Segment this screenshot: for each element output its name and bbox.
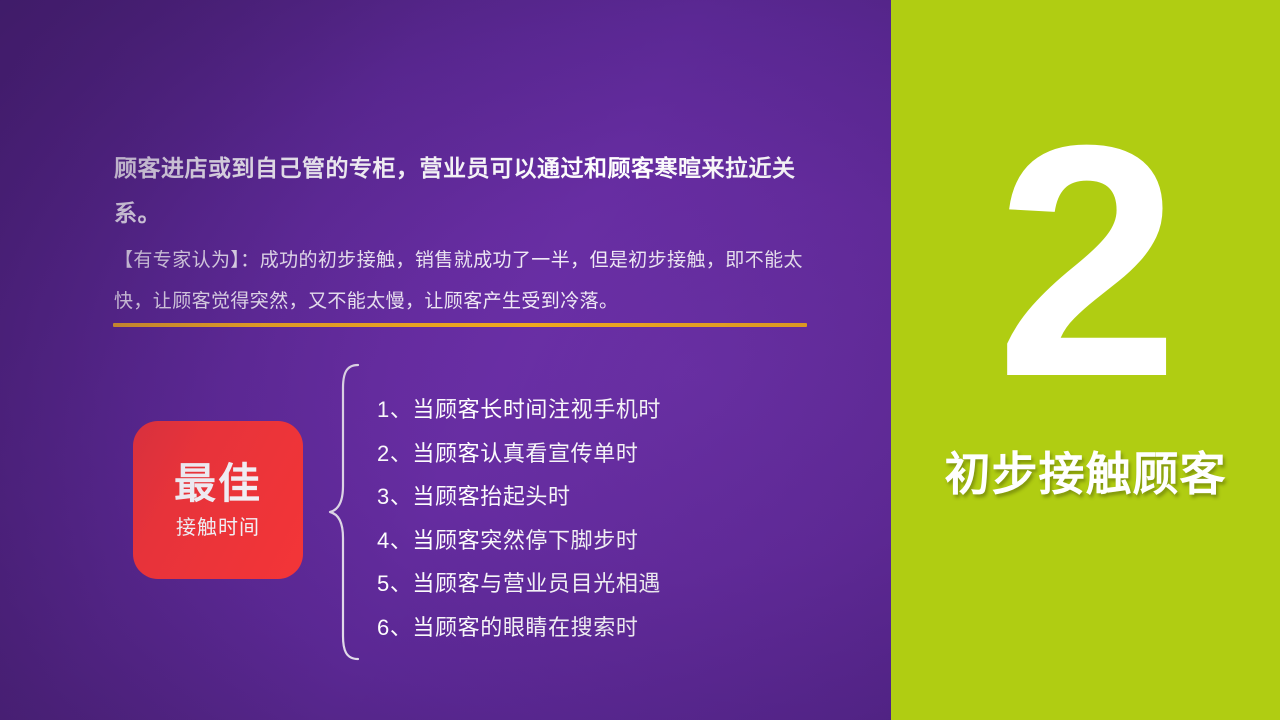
- slide-heading: 顾客进店或到自己管的专柜，营业员可以通过和顾客寒暄来拉近关系。: [114, 146, 820, 236]
- list-item: 1、当顾客长时间注视手机时: [377, 388, 807, 432]
- purple-content-panel: 顾客进店或到自己管的专柜，营业员可以通过和顾客寒暄来拉近关系。 【有专家认为】：…: [0, 0, 891, 720]
- list-item: 4、当顾客突然停下脚步时: [377, 519, 807, 563]
- section-caption: 初步接触顾客: [891, 438, 1280, 504]
- green-section-panel: 2 初步接触顾客: [891, 0, 1280, 720]
- list-item: 6、当顾客的眼睛在搜索时: [377, 606, 807, 650]
- list-item: 2、当顾客认真看宣传单时: [377, 432, 807, 476]
- curly-brace-icon: [326, 362, 366, 662]
- list-item: 5、当顾客与营业员目光相遇: [377, 562, 807, 606]
- slide-body-text: 【有专家认为】：成功的初步接触，销售就成功了一半，但是初步接触，即不能太快，让顾…: [114, 240, 820, 322]
- orange-divider: [113, 323, 807, 327]
- section-number: 2: [891, 96, 1280, 426]
- best-timing-badge: 最佳 接触时间: [133, 421, 303, 579]
- list-item: 3、当顾客抬起头时: [377, 475, 807, 519]
- slide-canvas: 顾客进店或到自己管的专柜，营业员可以通过和顾客寒暄来拉近关系。 【有专家认为】：…: [0, 0, 1280, 720]
- badge-title: 最佳: [174, 460, 262, 507]
- timing-item-list: 1、当顾客长时间注视手机时 2、当顾客认真看宣传单时 3、当顾客抬起头时 4、当…: [377, 388, 807, 649]
- badge-subtitle: 接触时间: [176, 516, 260, 540]
